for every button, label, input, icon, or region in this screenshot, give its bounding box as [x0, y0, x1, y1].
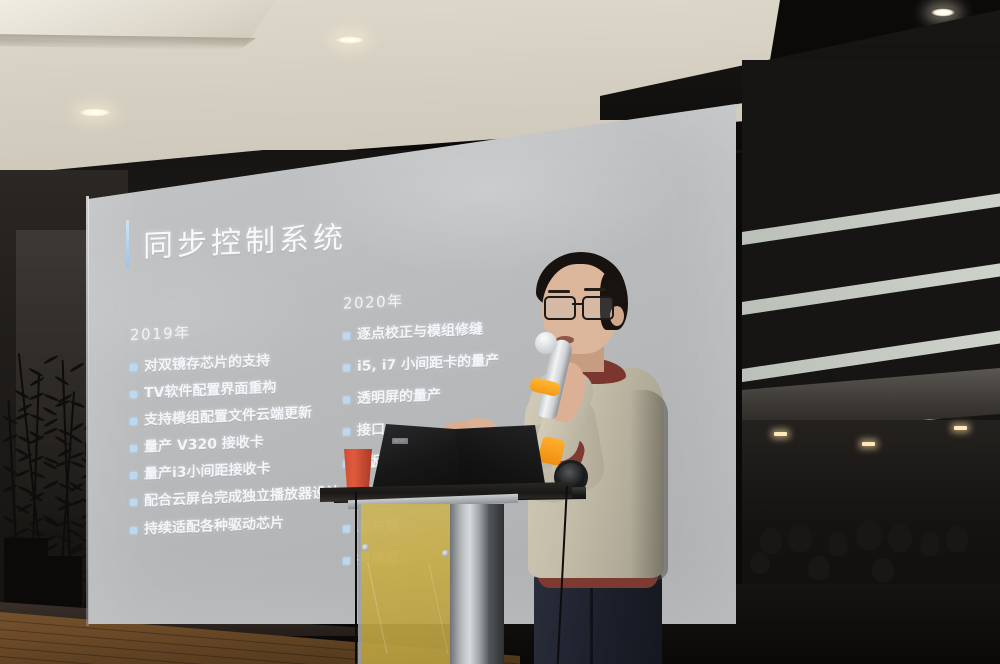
presenter-eyebrow	[548, 290, 570, 293]
bullet-square-icon	[130, 526, 137, 533]
list-item-label: TV软件配置界面重构	[144, 380, 276, 402]
bullet-square-icon	[343, 364, 350, 371]
bullet-square-icon	[130, 499, 137, 506]
audience-member	[920, 532, 940, 556]
audience-member	[760, 528, 782, 554]
audience-member	[872, 558, 894, 582]
lectern-support-column	[450, 504, 488, 664]
audience-member	[828, 532, 848, 556]
lectern-support-shadow	[488, 504, 504, 664]
sweater-shading	[630, 390, 668, 580]
presenter-eyebrow	[584, 288, 606, 291]
trouser-seam	[590, 580, 593, 664]
bullet-square-icon	[130, 418, 137, 425]
recessed-light	[862, 442, 875, 446]
recessed-light	[774, 432, 787, 436]
glasses-lens-left	[544, 296, 576, 320]
list-item: 支持模组配置文件云端更新	[130, 403, 360, 429]
bullet-square-icon	[130, 391, 137, 398]
lectern-bolt	[442, 550, 449, 557]
ceiling-downlight	[78, 108, 112, 117]
recessed-light	[954, 426, 967, 430]
list-item-label: 量产 V320 接收卡	[144, 434, 264, 455]
bullet-square-icon	[343, 429, 350, 436]
bullet-square-icon	[343, 397, 350, 404]
list-item-label: 配合云屏台完成独立播放器设计	[144, 485, 340, 510]
ceiling-downlight	[335, 36, 365, 44]
glasses-bridge	[572, 303, 582, 305]
list-item-label: 持续适配各种驱动芯片	[144, 515, 284, 537]
wall-stripe	[742, 191, 1000, 248]
audience-member	[888, 524, 912, 552]
audience-member	[750, 552, 770, 574]
column-2019: 2019年 对双镜存芯片的支持 TV软件配置界面重构 支持模组配置文件云端更新	[130, 314, 360, 549]
bullet-square-icon	[130, 472, 137, 479]
list-item-label: 接口	[357, 422, 385, 439]
list-item-label: 量产i3小间距接收卡	[144, 461, 271, 483]
list-item: 量产i3小间距接收卡	[130, 457, 360, 483]
power-cable	[355, 492, 357, 664]
glasses-icon	[544, 296, 616, 316]
audience-member	[788, 524, 812, 552]
list-item: TV软件配置界面重构	[130, 376, 360, 402]
lectern-bolt	[362, 544, 369, 551]
bullet-square-icon	[130, 364, 137, 371]
ceiling-downlight	[930, 8, 956, 17]
audience-member	[946, 526, 968, 552]
glasses-lens-right	[582, 296, 614, 320]
list-item-label: 对双镜存芯片的支持	[144, 353, 270, 375]
audience-member	[808, 556, 830, 580]
bullet-square-icon	[130, 445, 137, 452]
audience-member	[856, 520, 882, 550]
list-item-label: 支持模组配置文件云端更新	[144, 405, 312, 429]
list-item: 持续适配各种驱动芯片	[130, 511, 360, 537]
list-item: 对双镜存芯片的支持	[130, 349, 360, 375]
lectern-front-panel	[358, 504, 456, 664]
presentation-photo: 同步控制系统 2019年 对双镜存芯片的支持 TV软件配置界面重构	[0, 0, 1000, 664]
list-item: 量产 V320 接收卡	[130, 430, 360, 456]
wall-stripe	[742, 261, 1000, 318]
list-item-label: 透明屏的量产	[357, 387, 441, 407]
bullet-square-icon	[343, 332, 350, 339]
laptop-brand-logo: acer	[392, 438, 408, 444]
lectern	[330, 482, 560, 664]
column-heading: 2019年	[130, 314, 360, 345]
